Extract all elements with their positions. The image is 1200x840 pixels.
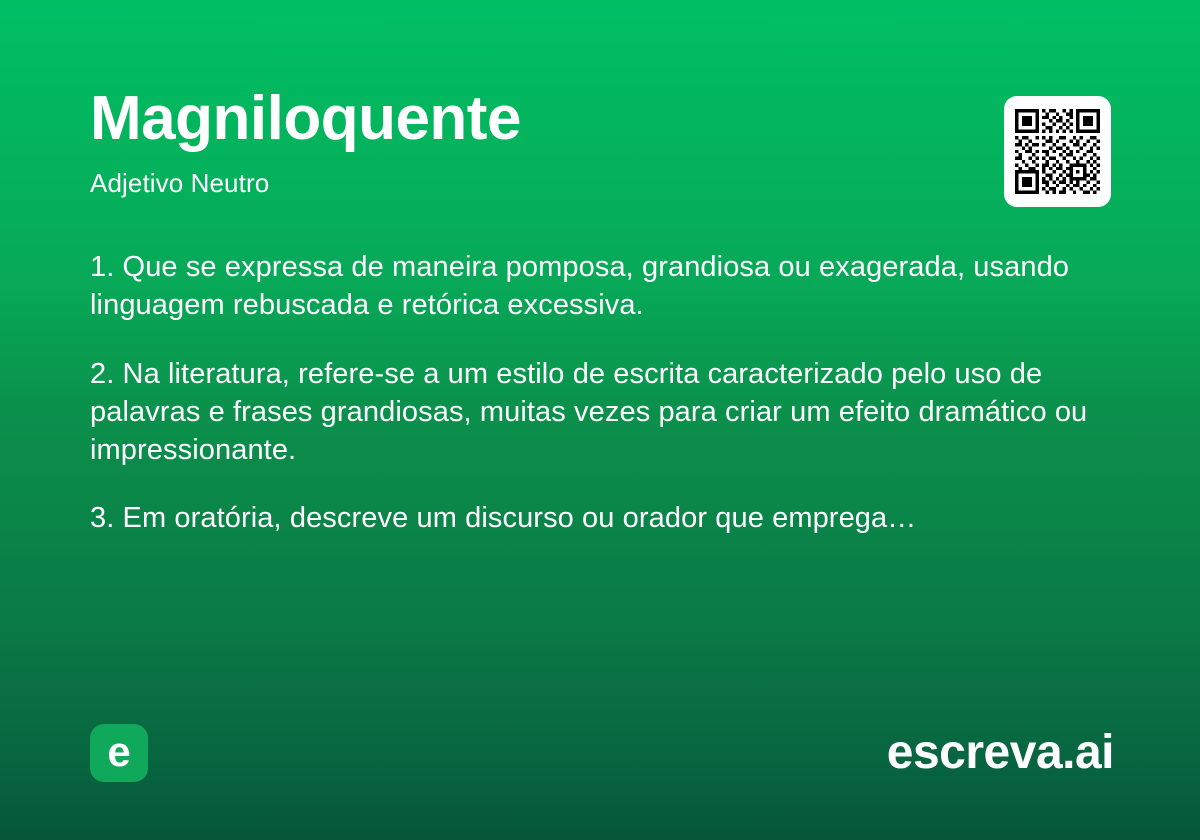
brand-logo-mark: e xyxy=(90,724,148,782)
list-item: 2. Na literatura, refere-se a um estilo … xyxy=(90,355,1090,470)
brand-logo-letter: e xyxy=(90,724,148,782)
definition-list: 1. Que se expressa de maneira pomposa, g… xyxy=(90,248,1090,538)
qr-code-icon xyxy=(1015,109,1100,194)
list-item: 1. Que se expressa de maneira pomposa, g… xyxy=(90,248,1090,325)
list-item: 3. Em oratória, descreve um discurso ou … xyxy=(90,499,1090,537)
card-header: Magniloquente Adjetivo Neutro xyxy=(90,88,1110,196)
brand-wordmark: escreva.ai xyxy=(887,724,1114,782)
dictionary-card: Magniloquente Adjetivo Neutro xyxy=(0,0,1200,840)
page-title: Magniloquente xyxy=(90,88,1110,150)
word-class-label: Adjetivo Neutro xyxy=(90,170,1110,196)
qr-code-card[interactable] xyxy=(1004,96,1111,207)
